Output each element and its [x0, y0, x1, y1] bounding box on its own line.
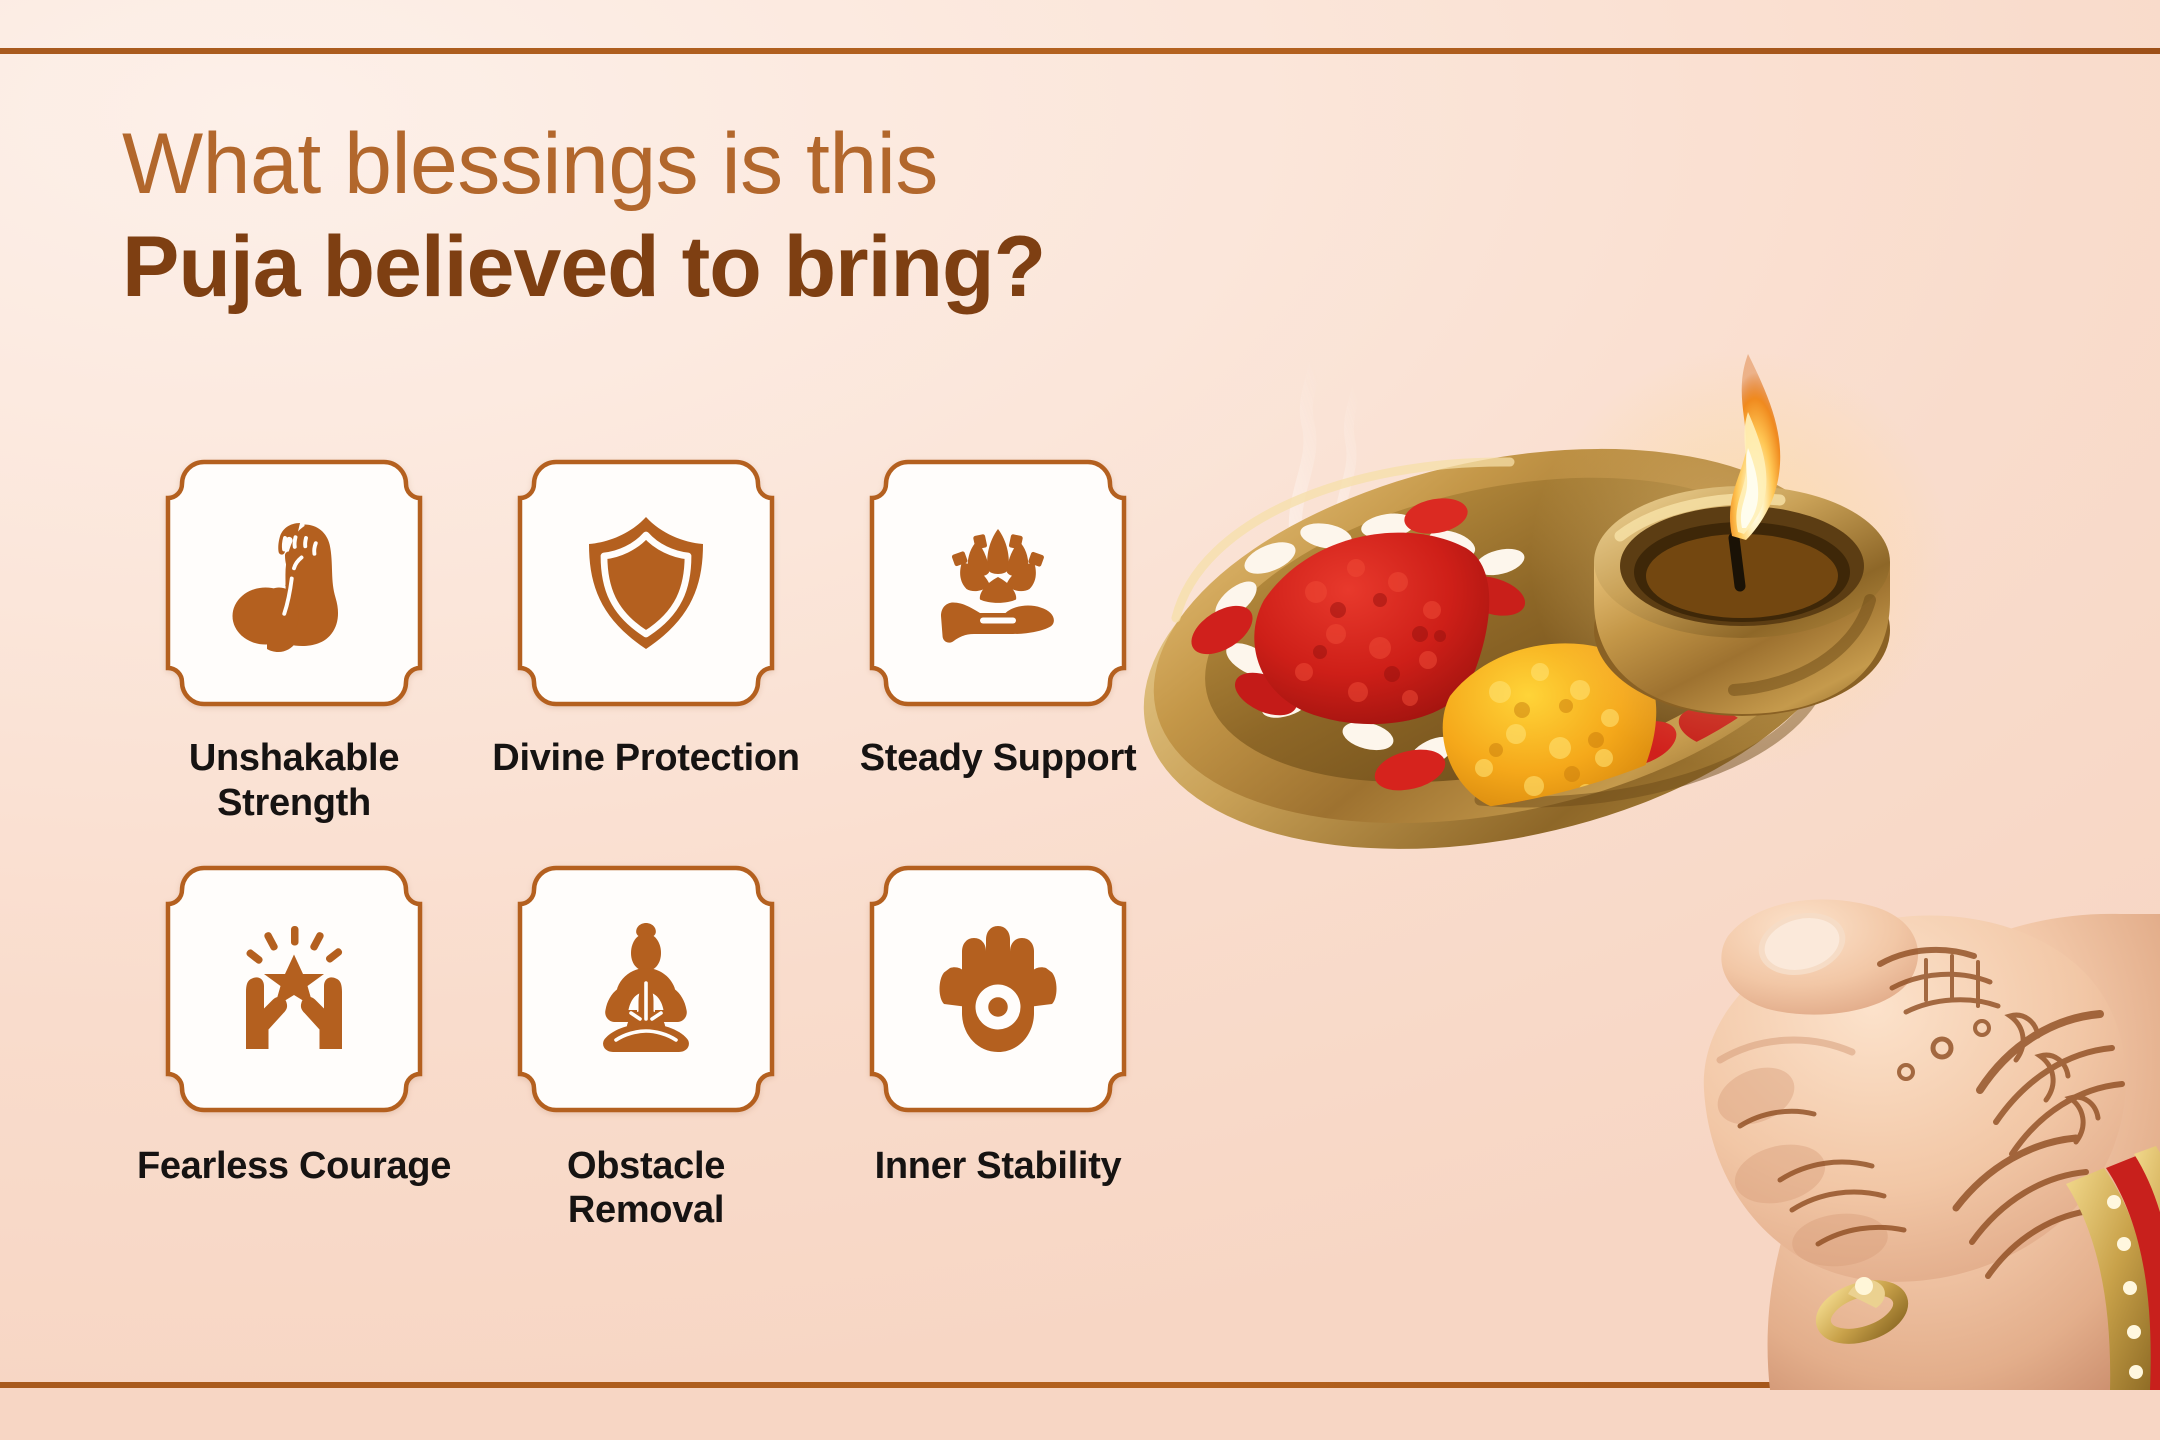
icon-card[interactable] [516, 458, 776, 708]
blessing-item-obstacle-removal[interactable]: Obstacle Removal [470, 864, 822, 1234]
blessing-label: Fearless Courage [137, 1144, 451, 1189]
icon-card[interactable] [516, 864, 776, 1114]
henna-decorated-hand [1704, 899, 2160, 1390]
hand-holding-puja-thali-photo [1080, 300, 2160, 1390]
hamsa-hand-icon [923, 914, 1073, 1064]
flexed-biceps-icon [219, 508, 369, 658]
meditating-figure-icon [571, 914, 721, 1064]
blessings-grid: Unshakable Strength [118, 458, 1178, 1233]
blessing-item-unshakable-strength[interactable]: Unshakable Strength [118, 458, 470, 826]
blessing-item-divine-protection[interactable]: Divine Protection [470, 458, 822, 826]
label-line-2: Removal [568, 1189, 724, 1231]
poster-canvas: What blessings is this Puja believed to … [0, 0, 2160, 1440]
icon-card[interactable] [164, 458, 424, 708]
shield-icon [571, 508, 721, 658]
label-line-2: Strength [217, 782, 371, 824]
title-line-1: What blessings is this [122, 118, 1422, 211]
blessing-label: Obstacle Removal [567, 1144, 725, 1234]
blessing-item-fearless-courage[interactable]: Fearless Courage [118, 864, 470, 1234]
label-line-1: Obstacle [567, 1145, 725, 1187]
lotus-in-hand-icon [923, 508, 1073, 658]
blessings-row-2: Fearless Courage [118, 864, 1178, 1234]
top-divider-rule [0, 48, 2160, 54]
blessing-label: Divine Protection [492, 736, 799, 781]
label-line-1: Unshakable [189, 737, 399, 779]
icon-card[interactable] [164, 864, 424, 1114]
page-title: What blessings is this Puja believed to … [122, 118, 1422, 315]
hands-with-star-icon [219, 914, 369, 1064]
blessings-row-1: Unshakable Strength [118, 458, 1178, 826]
blessing-label: Unshakable Strength [189, 736, 399, 826]
